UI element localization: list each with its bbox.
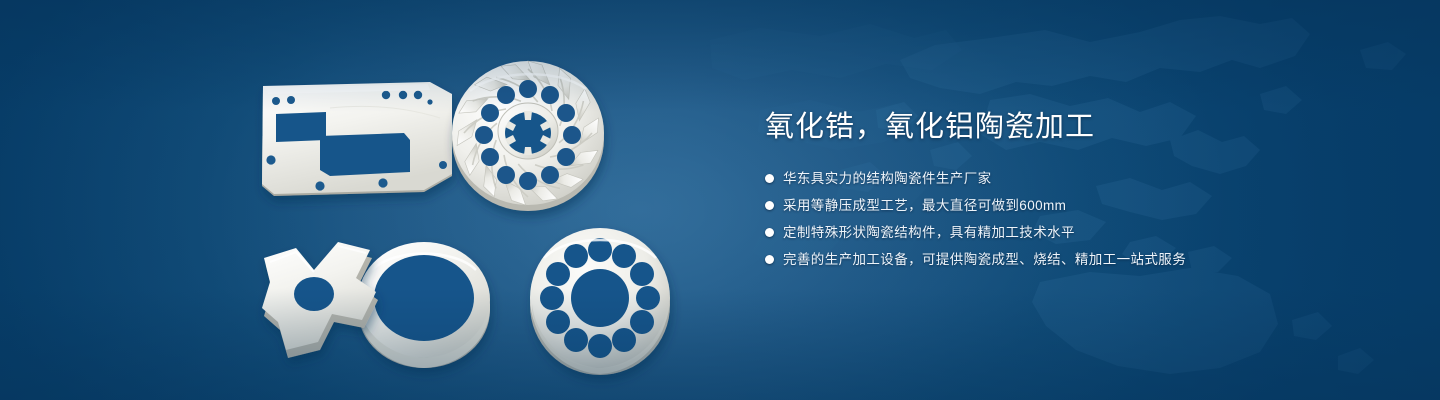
list-item: 定制特殊形状陶瓷结构件，具有精加工技术水平 [765,222,1385,243]
ceramic-products-banner: 氧化锆，氧化铝陶瓷加工 华东具实力的结构陶瓷件生产厂家 采用等静压成型工艺，最大… [0,0,1440,400]
bullet-dot-icon [765,228,774,237]
bullet-dot-icon [765,174,774,183]
feature-text: 采用等静压成型工艺，最大直径可做到600mm [783,195,1066,216]
feature-text: 定制特殊形状陶瓷结构件，具有精加工技术水平 [783,222,1075,243]
feature-text: 完善的生产加工设备，可提供陶瓷成型、烧结、精加工一站式服务 [783,249,1186,270]
bullet-dot-icon [765,255,774,264]
banner-headline: 氧化锆，氧化铝陶瓷加工 [765,108,1385,146]
list-item: 采用等静压成型工艺，最大直径可做到600mm [765,195,1385,216]
bullet-dot-icon [765,201,774,210]
banner-text-column: 氧化锆，氧化铝陶瓷加工 华东具实力的结构陶瓷件生产厂家 采用等静压成型工艺，最大… [765,108,1385,276]
list-item: 华东具实力的结构陶瓷件生产厂家 [765,168,1385,189]
list-item: 完善的生产加工设备，可提供陶瓷成型、烧结、精加工一站式服务 [765,249,1385,270]
feature-text: 华东具实力的结构陶瓷件生产厂家 [783,168,992,189]
banner-feature-list: 华东具实力的结构陶瓷件生产厂家 采用等静压成型工艺，最大直径可做到600mm 定… [765,168,1385,270]
